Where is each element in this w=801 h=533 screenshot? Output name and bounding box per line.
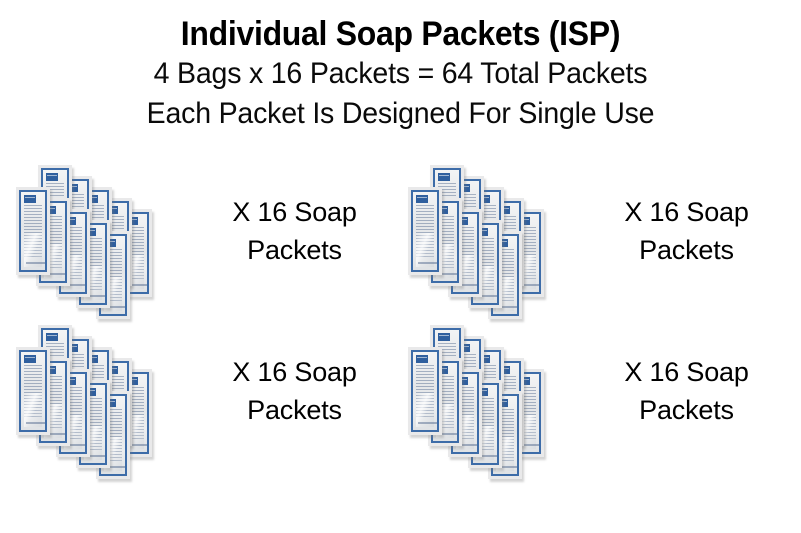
packet-group-label-line-2: Packets (192, 231, 397, 269)
soap-packet-stack (408, 165, 588, 320)
soap-packet-stack (16, 325, 196, 480)
packet-brand-label (416, 195, 428, 203)
packet-seal-line (418, 262, 438, 264)
packet-seal-line (26, 262, 46, 264)
subtitle-line-1: 4 Bags x 16 Packets = 64 Total Packets (20, 54, 781, 94)
packet-groups-grid: X 16 Soap Packets X 16 Soap Packets X 16… (0, 160, 801, 480)
packet-brand-label (46, 173, 58, 181)
soap-packet (408, 187, 442, 275)
packet-group-label-line-1: X 16 Soap (624, 197, 748, 227)
packet-face (19, 350, 47, 432)
soap-packet (408, 347, 442, 435)
packet-group-label-line-2: Packets (192, 391, 397, 429)
soap-packet (16, 187, 50, 275)
product-infographic: Individual Soap Packets (ISP) 4 Bags x 1… (0, 0, 801, 533)
packet-brand-label (24, 355, 36, 363)
packet-brand-label (438, 173, 450, 181)
packet-group-label-line-2: Packets (584, 231, 789, 269)
packet-brand-label (46, 333, 58, 341)
packet-seal-line (418, 422, 438, 424)
heading-block: Individual Soap Packets (ISP) 4 Bags x 1… (0, 14, 801, 134)
packet-seal-line (26, 422, 46, 424)
packet-group-label-line-1: X 16 Soap (624, 357, 748, 387)
soap-packet-stack (408, 325, 588, 480)
soap-packet-stack (16, 165, 196, 320)
packet-group-label-line-1: X 16 Soap (232, 197, 356, 227)
subtitle-line-2: Each Packet Is Designed For Single Use (20, 94, 781, 134)
packet-group-2: X 16 Soap Packets (398, 165, 793, 320)
page-title: Individual Soap Packets (ISP) (24, 14, 777, 54)
packet-brand-label (24, 195, 36, 203)
packet-group-label-line-1: X 16 Soap (232, 357, 356, 387)
packet-group-label-line-2: Packets (584, 391, 789, 429)
packet-group-label: X 16 Soap Packets (584, 193, 789, 270)
packet-face (19, 190, 47, 272)
packet-group-label: X 16 Soap Packets (192, 193, 397, 270)
packet-group-1: X 16 Soap Packets (6, 165, 401, 320)
soap-packet (16, 347, 50, 435)
packet-group-label: X 16 Soap Packets (192, 353, 397, 430)
packet-group-4: X 16 Soap Packets (398, 325, 793, 480)
packet-face (411, 190, 439, 272)
packet-group-3: X 16 Soap Packets (6, 325, 401, 480)
packet-brand-label (416, 355, 428, 363)
packet-face (411, 350, 439, 432)
packet-brand-label (438, 333, 450, 341)
packet-group-label: X 16 Soap Packets (584, 353, 789, 430)
